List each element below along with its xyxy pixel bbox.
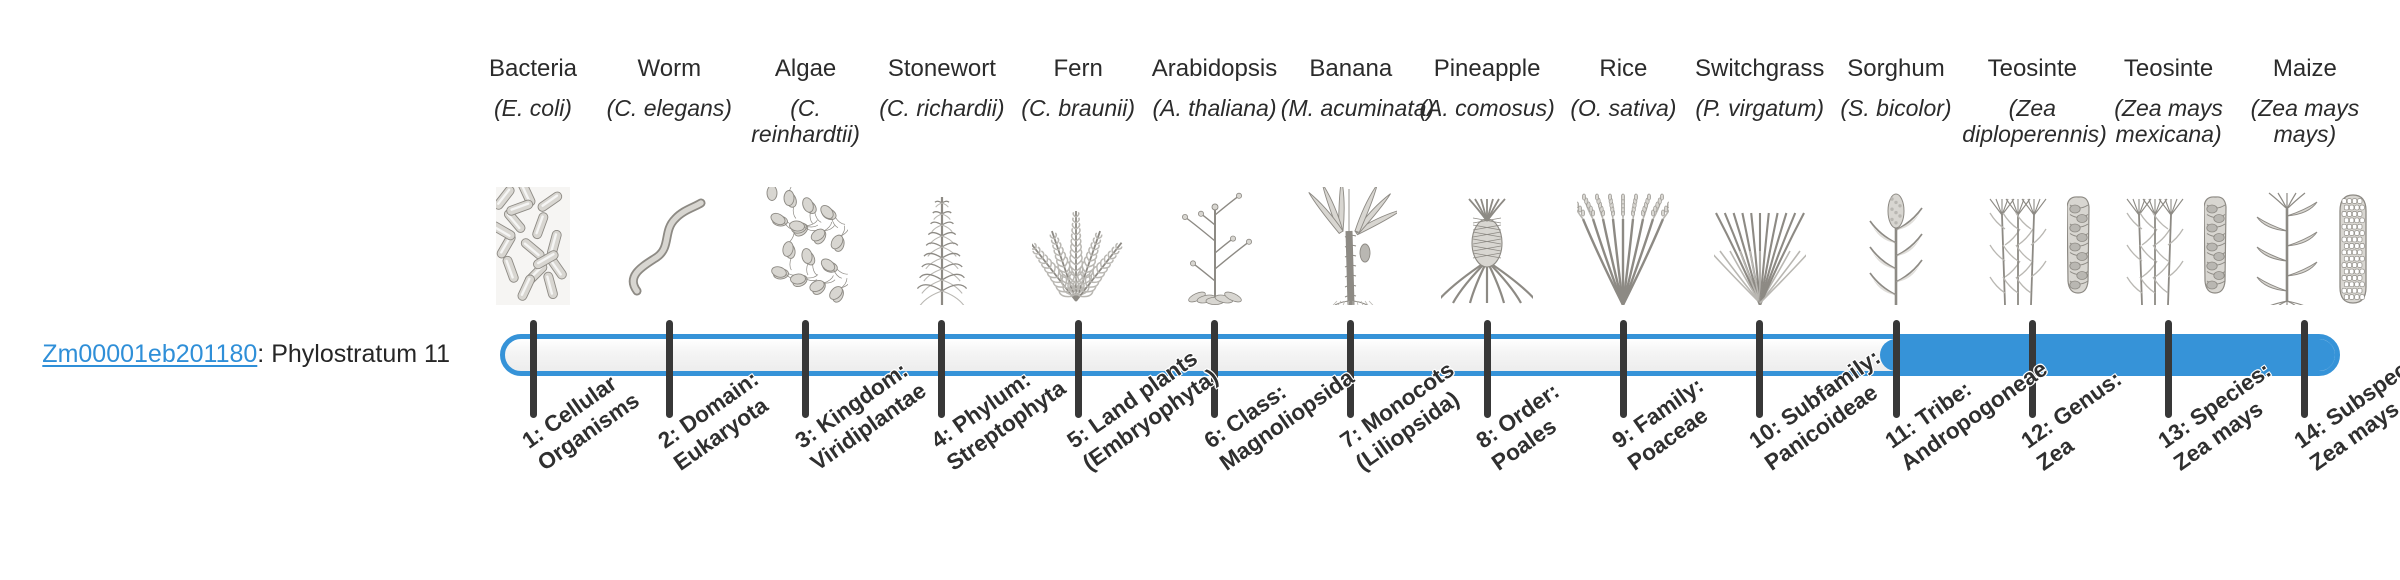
species-scientific-name: (A. comosus) [1417,95,1557,121]
arabidopsis-plant-icon [1145,165,1285,305]
rank-number: 14: [2289,414,2330,453]
stratum-tick-10 [1756,320,1763,418]
species-scientific-name: (C. elegans) [599,95,739,121]
species-common-name: Teosinte [1962,55,2102,83]
species-scientific-name: (C. reinhardtii) [736,95,876,147]
species-column-bacteria: Bacteria(E. coli) [463,55,603,121]
rank-name: Family: Poaceae [1624,373,1713,476]
teosinte-mexicana-plant-and-ear-icon [2099,165,2239,305]
species-scientific-name: (A. thaliana) [1145,95,1285,121]
rank-name: Phylum: Streptophyta [942,367,1070,476]
rank-label-8: 8: Order: Poales [1471,306,1683,477]
species-column-pineapple: Pineapple(A. comosus) [1417,55,1557,121]
rank-label-2: 2: Domain: Eukaryota [653,306,865,477]
stratum-tick-12 [2029,320,2036,418]
rank-number: 5: [1063,421,1094,453]
rank-name: Order: Poales [1487,378,1563,475]
species-scientific-name: (O. sativa) [1553,95,1693,121]
rank-number: 1: [518,421,549,453]
rank-label-3: 3: Kingdom: Viridiplantae [790,306,1002,477]
teosinte-plant-and-ear-icon [1962,165,2102,305]
species-scientific-name: (P. virgatum) [1690,95,1830,121]
rank-number: 12: [2017,414,2058,453]
stratum-tick-1 [530,320,537,418]
rank-number: 7: [1335,421,1366,453]
gene-phylostratum-text: Phylostratum 11 [271,340,450,368]
species-scientific-name: (Zea diploperennis) [1962,95,2102,147]
switchgrass-plant-icon [1690,165,1830,305]
rank-number: 6: [1199,421,1230,453]
rice-plant-icon [1553,165,1693,305]
rank-number: 10: [1744,414,1785,453]
species-column-algae: Algae(C. reinhardtii) [736,55,876,147]
rank-label-11: 11: Tribe: Andropogoneae [1880,306,2092,477]
species-common-name: Stonewort [872,55,1012,83]
ecoli-rods-icon [463,165,603,305]
species-common-name: Algae [736,55,876,83]
species-common-name: Bacteria [463,55,603,83]
species-scientific-name: (C. richardii) [872,95,1012,121]
nematode-worm-icon [599,165,739,305]
rank-name: Genus: Zea [2033,366,2127,476]
stratum-tick-9 [1620,320,1627,418]
species-common-name: Arabidopsis [1145,55,1285,83]
species-common-name: Switchgrass [1690,55,1830,83]
species-column-rice: Rice(O. sativa) [1553,55,1693,121]
species-scientific-name: (E. coli) [463,95,603,121]
rank-number: 2: [654,421,685,453]
sorghum-plant-icon [1826,165,1966,305]
rank-number: 13: [2153,414,2194,453]
gene-accession-link[interactable]: Zm00001eb201180 [42,340,257,368]
rank-label-7: 7: Monocots (Liliopsida) [1335,306,1547,477]
species-common-name: Maize [2235,55,2375,83]
stratum-tick-5 [1075,320,1082,418]
rank-name: Cellular Organisms [533,370,644,475]
rank-label-10: 10: Subfamily: Panicoideae [1744,306,1956,477]
maize-plant-and-cob-icon [2235,165,2375,305]
rank-label-12: 12: Genus: Zea [2016,306,2228,477]
stratum-tick-3 [802,320,809,418]
rank-name: Domain: Eukaryota [670,366,773,476]
species-common-name: Worm [599,55,739,83]
rank-label-6: 6: Class: Magnoliopsida [1199,306,1411,477]
species-common-name: Sorghum [1826,55,1966,83]
species-scientific-name: (Zea mays mexicana) [2099,95,2239,147]
species-column-teosinte: Teosinte(Zea diploperennis) [1962,55,2102,147]
pineapple-plant-icon [1417,165,1557,305]
rank-number: 8: [1472,421,1503,453]
species-column-maize: Maize(Zea mays mays) [2235,55,2375,147]
rank-number: 11: [1881,415,1921,453]
banana-plant-icon [1281,165,1421,305]
fern-frond-icon [1008,165,1148,305]
species-column-switchgrass: Switchgrass(P. virgatum) [1690,55,1830,121]
species-column-fern: Fern(C. braunii) [1008,55,1148,121]
stratum-tick-8 [1484,320,1491,418]
species-column-arabidopsis: Arabidopsis(A. thaliana) [1145,55,1285,121]
gene-phylostratum-label: Zm00001eb201180: Phylostratum 11 [40,341,450,369]
species-column-stonewort: Stonewort(C. richardii) [872,55,1012,121]
species-column-teosinte: Teosinte(Zea mays mexicana) [2099,55,2239,147]
phylostratum-timeline-figure: Zm00001eb201180: Phylostratum 11 Bacteri… [0,0,2400,580]
stratum-tick-6 [1211,320,1218,418]
species-scientific-name: (S. bicolor) [1826,95,1966,121]
rank-name: Class: Magnoliopsida [1215,365,1358,476]
species-column-sorghum: Sorghum(S. bicolor) [1826,55,1966,121]
rank-label-9: 9: Family: Poaceae [1607,306,1819,477]
stratum-tick-7 [1347,320,1354,418]
species-scientific-name: (M. acuminata) [1281,95,1421,121]
rank-label-4: 4: Phylum: Streptophyta [926,306,1138,477]
stratum-tick-11 [1893,320,1900,418]
species-common-name: Teosinte [2099,55,2239,83]
rank-number: 3: [790,421,821,453]
stonewort-alga-icon [872,165,1012,305]
species-common-name: Pineapple [1417,55,1557,83]
species-column-worm: Worm(C. elegans) [599,55,739,121]
species-common-name: Rice [1553,55,1693,83]
species-common-name: Fern [1008,55,1148,83]
species-scientific-name: (Zea mays mays) [2235,95,2375,147]
species-common-name: Banana [1281,55,1421,83]
stratum-tick-14 [2301,320,2308,418]
gene-label-separator: : [257,340,271,368]
green-algae-cells-icon [736,165,876,305]
stratum-tick-2 [666,320,673,418]
phylostratum-progress-track[interactable] [500,334,2340,376]
species-scientific-name: (C. braunii) [1008,95,1148,121]
rank-number: 4: [926,421,957,453]
stratum-tick-13 [2165,320,2172,418]
species-column-banana: Banana(M. acuminata) [1281,55,1421,121]
rank-label-13: 13: Species: Zea mays [2153,306,2365,477]
rank-label-1: 1: Cellular Organisms [517,306,729,477]
phylostratum-progress-fill [1880,339,2336,371]
stratum-tick-4 [938,320,945,418]
rank-label-5: 5: Land plants (Embryophyta) [1062,306,1274,477]
rank-number: 9: [1608,421,1639,453]
